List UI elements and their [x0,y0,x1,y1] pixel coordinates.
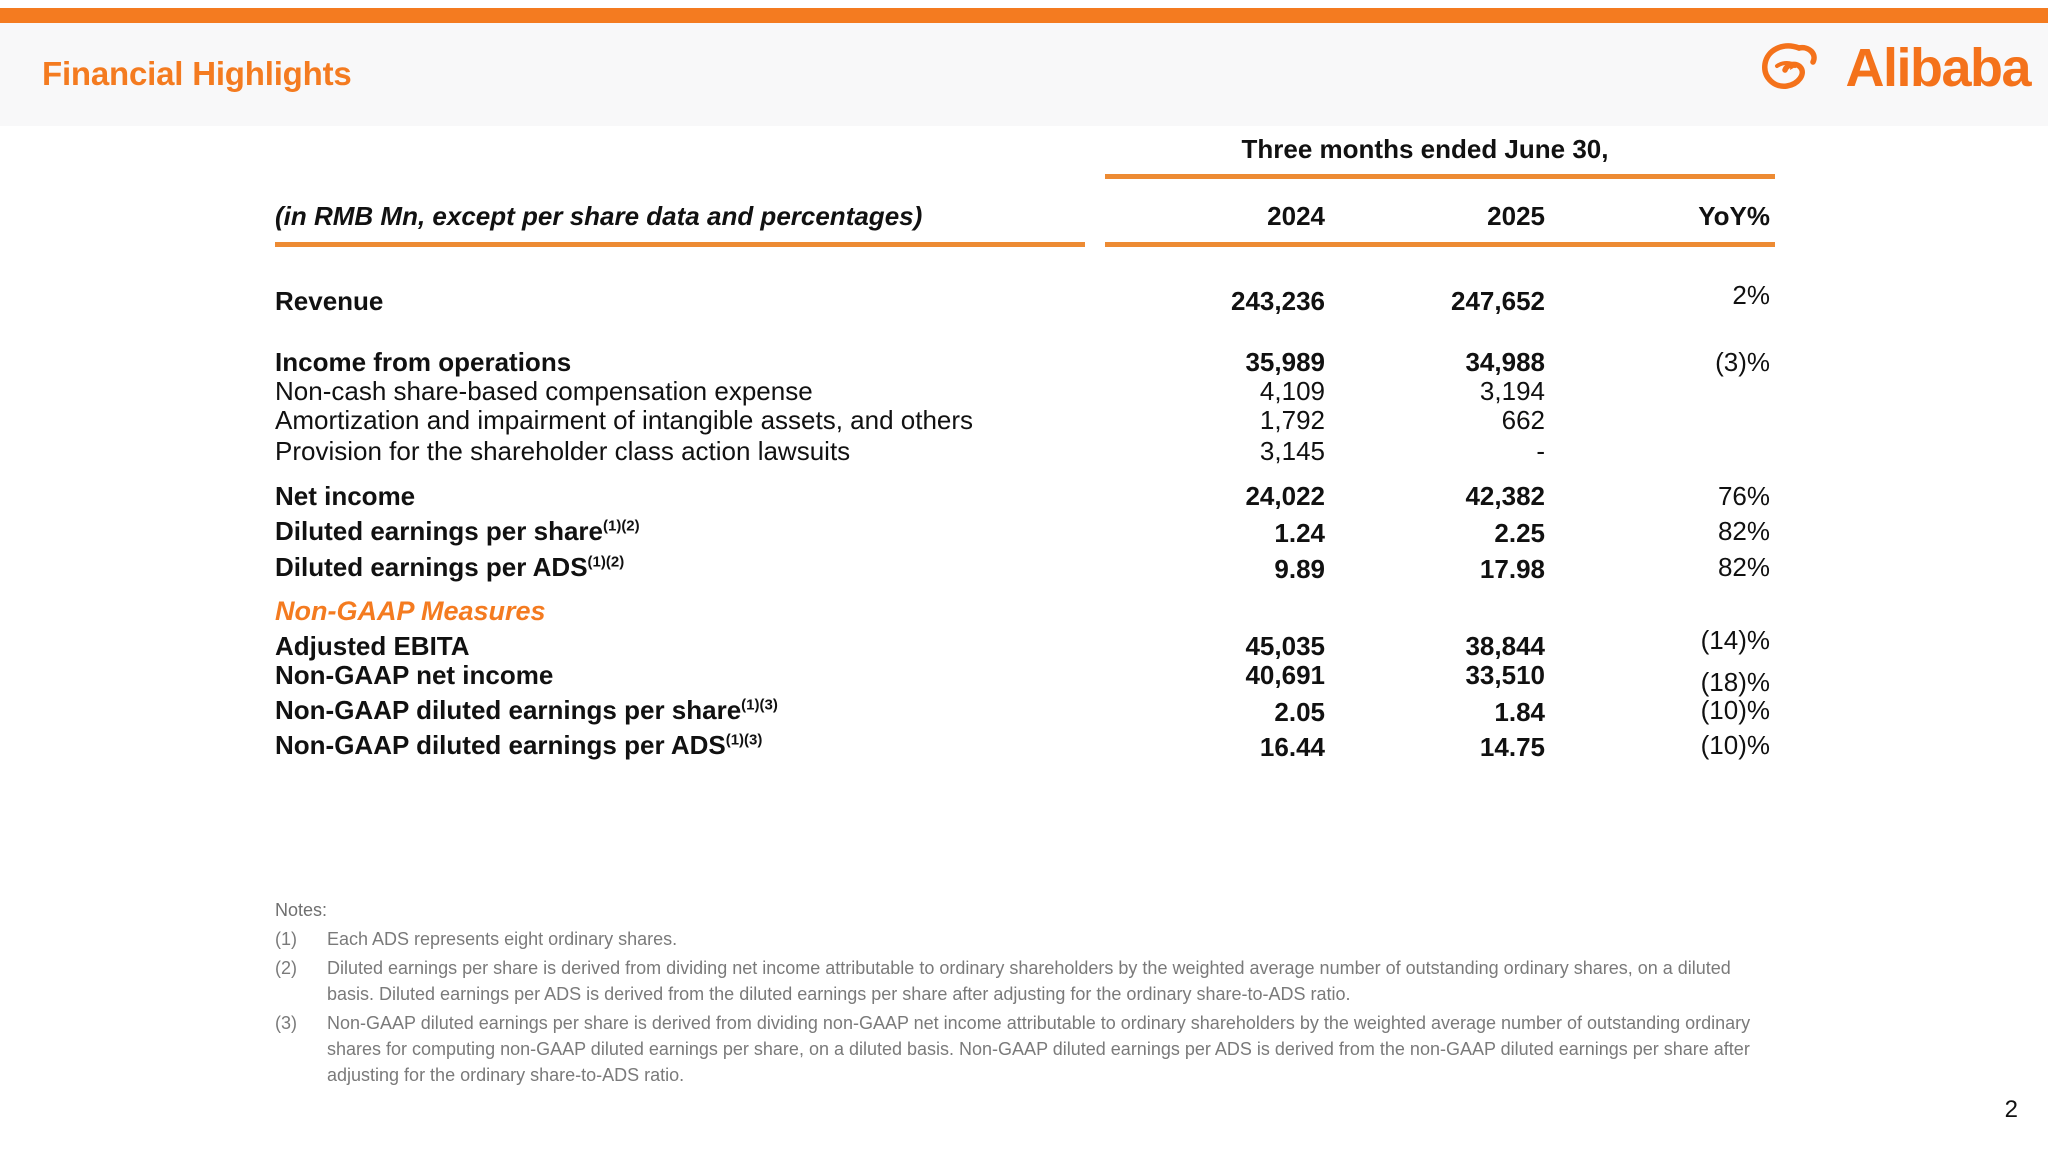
row-value-yoy: (10)% [1560,695,1770,726]
row-label: Non-GAAP net income [275,660,553,691]
row-value-2024: 35,989 [1075,347,1325,378]
row-value-2025: 17.98 [1300,554,1545,585]
rule-under-group-header [1105,174,1775,179]
row-label: Diluted earnings per share(1)(2) [275,516,640,547]
note-text: Non-GAAP diluted earnings per share is d… [327,1010,1775,1088]
row-label: Net income [275,481,415,512]
row-value-2024: 2.05 [1075,697,1325,728]
row-value-2024: 243,236 [1075,286,1325,317]
row-value-yoy: 76% [1560,481,1770,512]
row-value-yoy: 2% [1560,280,1770,311]
row-label: Provision for the shareholder class acti… [275,436,850,467]
row-value-2024: 40,691 [1075,660,1325,691]
row-value-2025: 34,988 [1300,347,1545,378]
row-value-2024: 9.89 [1075,554,1325,585]
row-value-2025: 1.84 [1300,697,1545,728]
row-label-text: Non-GAAP diluted earnings per ADS [275,730,726,760]
row-value-2024: 24,022 [1075,481,1325,512]
alibaba-logo-mark [1759,40,1831,96]
row-value-2024: 3,145 [1075,436,1325,467]
slide: Financial Highlights Alibaba Three month… [0,0,2048,1152]
row-value-yoy: 82% [1560,552,1770,583]
note-item: (1) Each ADS represents eight ordinary s… [275,926,1775,952]
notes-section: Notes: (1) Each ADS represents eight ord… [275,900,1775,1092]
column-header-2025: 2025 [1300,201,1545,232]
footnote-ref: (1)(2) [603,517,640,534]
column-header-2024: 2024 [1075,201,1325,232]
column-header-yoy: YoY% [1560,201,1770,232]
row-label: Amortization and impairment of intangibl… [275,405,973,436]
row-label: Non-cash share-based compensation expens… [275,376,813,407]
row-label: Diluted earnings per ADS(1)(2) [275,552,624,583]
row-value-2025: 42,382 [1300,481,1545,512]
rule-under-labels [275,242,1085,247]
note-number: (1) [275,926,327,952]
row-value-yoy: (18)% [1560,667,1770,698]
row-value-yoy: (14)% [1560,625,1770,656]
row-value-2025: 3,194 [1300,376,1545,407]
row-value-yoy: (10)% [1560,730,1770,761]
row-value-2025: 662 [1300,405,1545,436]
note-text: Diluted earnings per share is derived fr… [327,955,1775,1007]
top-accent-bar [0,8,2048,23]
footnote-ref: (1)(3) [741,696,778,713]
row-value-yoy: (3)% [1560,347,1770,378]
page-title: Financial Highlights [42,55,352,93]
row-value-2024: 1.24 [1075,518,1325,549]
column-group-header: Three months ended June 30, [1075,134,1775,165]
row-value-2025: 14.75 [1300,732,1545,763]
row-label: Revenue [275,286,383,317]
row-label-text: Diluted earnings per ADS [275,552,588,582]
notes-title: Notes: [275,900,1775,921]
page-number: 2 [2005,1096,2018,1124]
row-label-text: Diluted earnings per share [275,516,603,546]
row-value-2024: 1,792 [1075,405,1325,436]
footnote-ref: (1)(3) [726,731,763,748]
row-label: Non-GAAP diluted earnings per share(1)(3… [275,695,778,726]
note-number: (2) [275,955,327,1007]
row-value-2025: - [1300,436,1545,467]
row-value-2024: 16.44 [1075,732,1325,763]
rule-under-columns [1105,242,1775,247]
row-value-2024: 4,109 [1075,376,1325,407]
note-item: (2) Diluted earnings per share is derive… [275,955,1775,1007]
row-label-text: Non-GAAP diluted earnings per share [275,695,741,725]
row-label: Adjusted EBITA [275,631,470,662]
note-text: Each ADS represents eight ordinary share… [327,926,1775,952]
alibaba-logo: Alibaba [1759,40,2030,96]
units-note: (in RMB Mn, except per share data and pe… [275,201,922,232]
row-value-yoy: 82% [1560,516,1770,547]
row-value-2024: 45,035 [1075,631,1325,662]
row-value-2025: 247,652 [1300,286,1545,317]
row-label: Income from operations [275,347,571,378]
row-label: Non-GAAP diluted earnings per ADS(1)(3) [275,730,762,761]
row-value-2025: 38,844 [1300,631,1545,662]
note-number: (3) [275,1010,327,1088]
logo-wordmark: Alibaba [1845,41,2030,95]
row-value-2025: 2.25 [1300,518,1545,549]
section-header-non-gaap: Non-GAAP Measures [275,596,546,627]
row-value-2025: 33,510 [1300,660,1545,691]
footnote-ref: (1)(2) [588,553,625,570]
note-item: (3) Non-GAAP diluted earnings per share … [275,1010,1775,1088]
